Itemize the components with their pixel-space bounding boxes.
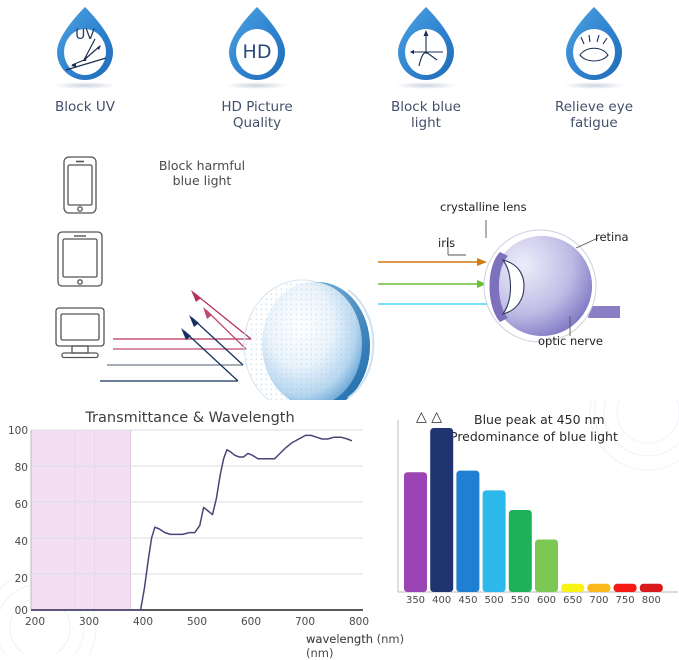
spectrum-bar[interactable] xyxy=(509,510,532,592)
uv-glyph-text: UV xyxy=(75,27,95,43)
uv-band-uv-b xyxy=(75,430,94,610)
spectrum-bar[interactable] xyxy=(640,584,663,592)
bar-x-tick: 750 xyxy=(611,595,640,606)
lens-graphic xyxy=(244,280,373,400)
monitor-icon xyxy=(56,308,104,358)
spectrum-bar[interactable] xyxy=(404,472,427,592)
spectrum-bar[interactable] xyxy=(561,584,584,592)
feature-block-blue-light[interactable]: Block blue light xyxy=(341,4,511,131)
optic-nerve-shape xyxy=(588,306,620,318)
retina-label: retina xyxy=(595,230,629,244)
hd-glyph-text: HD xyxy=(243,41,272,63)
spectrum-bar[interactable] xyxy=(483,490,506,592)
crystalline-lens-label: crystalline lens xyxy=(440,200,527,214)
blue-light-drop-icon xyxy=(383,4,469,90)
iris-label: iris xyxy=(438,236,455,250)
bar-x-tick: 600 xyxy=(532,595,561,606)
feature-block-uv[interactable]: UV Block UV xyxy=(0,4,170,115)
drop-shadow xyxy=(395,82,457,89)
uv-drop-icon: UV xyxy=(42,4,128,90)
transmittance-chart: Transmittance & Wavelength 100 80 60 40 … xyxy=(0,400,380,654)
bar-x-tick: 400 xyxy=(427,595,456,606)
spectrum-bar[interactable] xyxy=(456,471,479,592)
drop-shadow xyxy=(226,82,288,89)
charts-row: Transmittance & Wavelength 100 80 60 40 … xyxy=(0,400,679,654)
hd-drop-icon: HD xyxy=(214,4,300,90)
blocked-light-rays xyxy=(100,290,251,381)
uv-band-uv-a xyxy=(95,430,131,610)
bar-x-axis-caption: wavelength (nm) xyxy=(306,632,404,646)
spectrum-bar[interactable] xyxy=(614,584,637,592)
feature-label: Relieve eye fatigue xyxy=(509,99,679,131)
uv-band-uv-c xyxy=(31,430,75,610)
feature-hd-quality[interactable]: HD HD Picture Quality xyxy=(172,4,342,131)
spectrum-bar[interactable] xyxy=(535,540,558,592)
bar-x-tick: 650 xyxy=(558,595,587,606)
bar-x-tick: 800 xyxy=(637,595,666,606)
bar-x-tick: 700 xyxy=(584,595,613,606)
tablet-icon xyxy=(58,232,102,286)
spectrum-bar[interactable] xyxy=(430,428,453,592)
spectrum-bar[interactable] xyxy=(587,584,610,592)
phone-icon xyxy=(64,157,96,213)
bar-x-tick: 450 xyxy=(453,595,482,606)
eye-drop-icon xyxy=(551,4,637,90)
bar-x-tick: 550 xyxy=(506,595,535,606)
bar-x-tick: 500 xyxy=(480,595,509,606)
feature-icon-row: UV Block UV HD HD Picture Quality xyxy=(0,0,679,138)
bar-x-tick: 350 xyxy=(401,595,430,606)
feature-label: Block UV xyxy=(0,99,170,115)
drop-shadow xyxy=(54,82,116,89)
optic-nerve-label: optic nerve xyxy=(538,334,603,348)
feature-label: HD Picture Quality xyxy=(172,99,342,131)
feature-label: Block blue light xyxy=(341,99,511,131)
drop-shadow xyxy=(563,82,625,89)
blue-light-spectrum-chart: △ △ Blue peak at 450 nm Predominance of … xyxy=(378,400,679,654)
lens-eye-illustration: Block harmful blue light xyxy=(0,138,679,400)
feature-relieve-eye-fatigue[interactable]: Relieve eye fatigue xyxy=(509,4,679,131)
